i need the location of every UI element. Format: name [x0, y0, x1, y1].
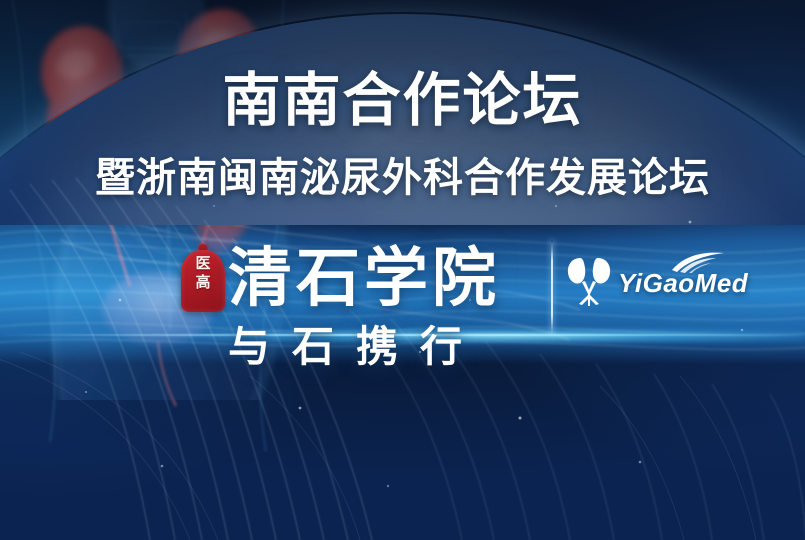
partner-name: YiGaoMed: [618, 268, 748, 298]
tagline: 与石携行: [228, 322, 484, 372]
vertical-divider: [551, 240, 553, 336]
logo-row: 医 高 清石学院: [0, 234, 805, 326]
event-poster: 南南合作论坛 暨浙南闽南泌尿外科合作发展论坛 医 高 清石学院: [0, 0, 805, 540]
seal-char-bottom: 高: [181, 273, 225, 292]
page-subtitle: 暨浙南闽南泌尿外科合作发展论坛: [0, 158, 805, 198]
brand-name-cn: 清石学院: [228, 232, 500, 324]
gourd-seal-icon: 医 高: [181, 244, 225, 312]
kidney-pair-icon: [566, 254, 612, 306]
seal-char-top: 医: [181, 254, 225, 273]
page-title: 南南合作论坛: [0, 72, 805, 130]
partner-logo: YiGaoMed: [566, 252, 746, 312]
seal-characters: 医 高: [181, 254, 225, 292]
poster-content: 南南合作论坛 暨浙南闽南泌尿外科合作发展论坛 医 高 清石学院: [0, 0, 805, 540]
